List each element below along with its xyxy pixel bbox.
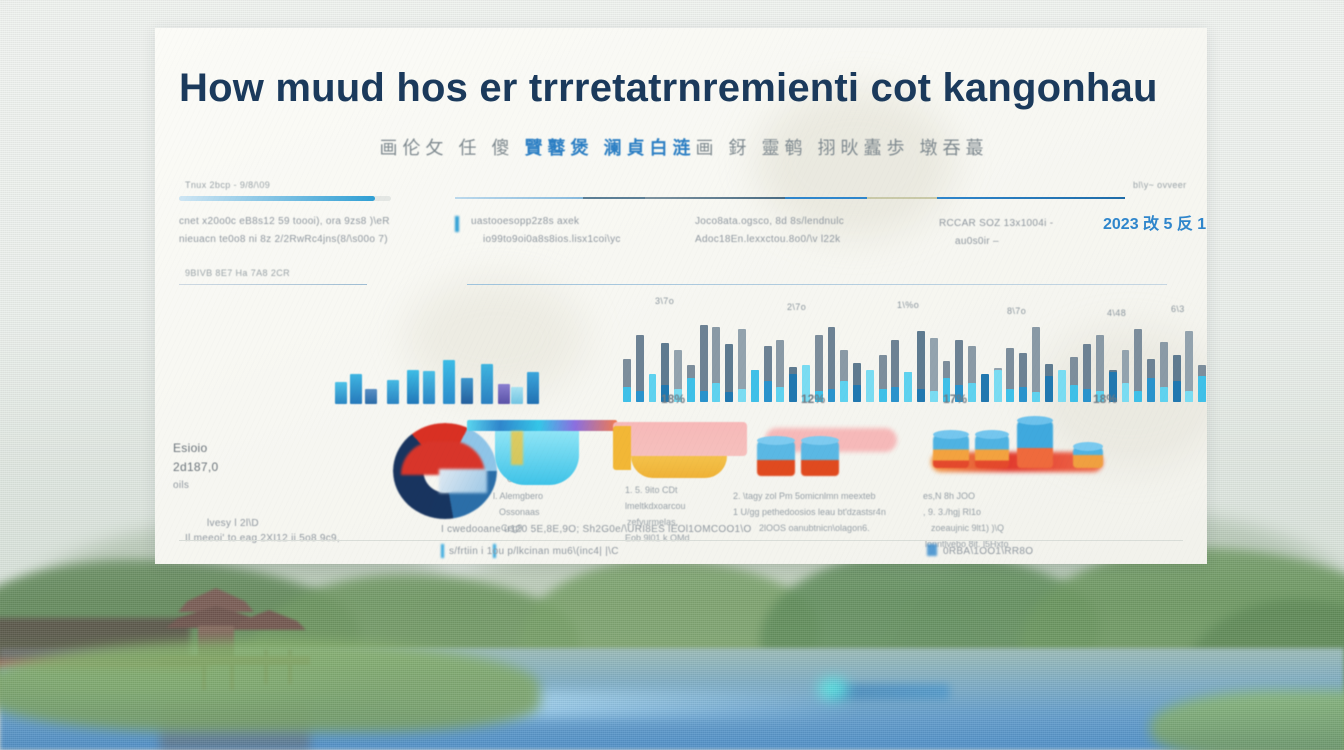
main-bar-cyan [917,389,925,402]
main-bar-cyan [700,391,708,402]
donut-label-left-3: oils [173,480,189,491]
mini-bar [387,380,399,404]
main-bar-slate [1032,327,1040,402]
mini-bar [443,360,455,404]
main-bar-cyan [649,374,657,402]
divider-segment [645,197,785,199]
card-1-caption-1: l. Alemgbero [493,490,543,503]
main-bar-cyan [853,385,861,402]
main-bar-cyan [968,383,976,402]
donut-label-left-2: 2d187,0 [173,460,218,474]
footer-line-2: s/frtiin i 1ou p/lkcinan mu6\(inc4| |\C [449,546,619,557]
footer-badge [927,544,937,556]
mini-bar [350,374,362,404]
card-2-percent[interactable]: 12% [801,392,825,406]
mini-bar [423,371,435,404]
donut-caption-2: Il meeoi' to eag 2XI12 ii 5o8 9c9, [185,533,340,544]
footer-divider [179,540,1183,541]
main-bar-cyan [1122,383,1130,402]
left-bar-label: Tnux 2bcp - 9/8/\09 [185,180,270,190]
top-col4-tail: au0s0ir – [955,236,999,247]
main-bar-cyan [891,387,899,402]
card-4-cylinder [975,434,1009,468]
divider-segment [785,197,867,199]
mini-chart-label: 9BIVB 8E7 Ha 7A8 2CR [185,268,290,278]
subtitle-tail: 画 釾 靈鹌 挧炚蠹歩 墩吞蕞 [696,138,989,158]
main-bar-chart [623,316,1207,402]
progress-fill-left [179,196,375,201]
mini-bar [498,384,510,404]
mini-bar [481,364,493,404]
card-4-cylinder-top [975,430,1009,439]
progress-track-left [179,196,391,201]
top-col2-line2: io99to9oi0a8s8ios.lisx1coi\yc [483,234,621,245]
card-3-caption-1: 2. \tagy zol Pm 5omicnlmn meexteb [733,490,876,503]
mini-bar [461,378,473,404]
footer-bullet [441,544,444,558]
divider-segment [455,197,583,199]
card-2-accent-left [613,426,631,470]
chart-annotation: 6\3 [1171,304,1185,314]
card-3-caption-3: 2lOOS oanubtnicn\olagon6. [759,522,870,535]
main-bar-cyan [1006,389,1014,402]
mini-bar [527,372,539,404]
card-4-caption-2: , 9. 3./hgj Rl1o [923,506,981,519]
mini-chart-rule [179,284,367,285]
main-bar-cyan [764,381,772,403]
card-4-cylinder-top [1017,416,1053,425]
footer-line-1: I cwedooane u120 5E,8E,9O; Sh2G0e/\URI8E… [441,524,752,535]
mini-bar [511,387,523,404]
main-bar-cyan [789,374,797,402]
main-bar-cyan [751,370,759,402]
card-1-bar [467,420,617,431]
top-col3-line2: Adoc18En.lexxctou.8o0/\v l22k [695,234,840,245]
card-1-caption-2: Ossonaas [499,506,540,519]
card-3-cylinder [801,440,839,476]
footer-line-3: 0RBA\1OO1\RR8O [943,546,1033,557]
donut-caption-1: lvesy l 2l\D [207,518,259,529]
main-bar-cyan [930,391,938,402]
card-4-graphic[interactable] [923,418,1113,484]
main-bar-cyan [1147,378,1155,402]
infographic-poster: How muud hos er trrretatrnremienti cot k… [155,28,1207,564]
card-3-caption-2: 1 U/gg pethedoosios leau bt'dzastsr4n [733,506,886,519]
mini-bar [407,370,419,404]
card-2-funnel [631,456,727,478]
big-chart-rule [467,284,1167,285]
card-4-caption-1: es,N 8h JOO [923,490,975,503]
card-1-percent[interactable]: 18% [661,392,685,406]
main-bar-cyan [712,383,720,402]
main-bar-cyan [840,381,848,403]
chart-annotation: 2\7o [787,302,806,312]
main-bar-cyan [904,372,912,402]
main-bar-cyan [981,374,989,402]
card-2-block [613,422,747,456]
subtitle-lead: 画伦攵 任 傻 [379,138,524,158]
page-title: How muud hos er trrretatrnremienti cot k… [179,66,1189,111]
top-col1-line2: nieuacn te0o8 ni 8z 2/2RwRc4jns(8/\s00o … [179,234,388,245]
main-bar-cyan [1070,385,1078,402]
subtitle: 画伦攵 任 傻 贒鼛煲 澜貞白涟画 釾 靈鹌 挧炚蠹歩 墩吞蕞 [179,134,1189,160]
card-3-cylinder-top [757,436,795,445]
main-bar-cyan [866,370,874,402]
card-2-caption-1: 1. 5. 9ito CDt [625,484,678,497]
subtitle-highlight: 贒鼛煲 澜貞白涟 [524,138,695,158]
card-3-graphic[interactable] [735,424,905,490]
main-bar-cyan [1045,376,1053,402]
main-bar-cyan [1083,389,1091,402]
top-col2-line1: uastooesopp2z8s axek [471,216,579,227]
chart-annotation: 8\7o [1007,306,1026,316]
top-col1-line1: cnet x20o0c eB8s12 59 toooi), ora 9zs8 )… [179,216,390,227]
main-bar-cyan [1058,370,1066,402]
card-4-cylinder-top [1073,442,1103,451]
card-4-cylinder [1017,420,1053,468]
kpi-value: 2023 改 5 反 1l [1103,210,1207,234]
main-bar-cyan [725,392,733,402]
divider-segment [937,197,1125,199]
chart-annotation: 4\48 [1107,308,1126,318]
main-bar-cyan [1198,376,1206,402]
card-1-accent [511,431,523,465]
card-4-caption-3: zoeaujnic 9lt1) )\Q [931,522,1004,535]
main-bar-cyan [1160,387,1168,402]
main-bar-cyan [1185,391,1193,402]
chart-annotation: 1\%o [897,300,919,310]
main-bar-cyan [636,391,644,402]
main-bar-cyan [1173,381,1181,403]
chart-annotation: 3\7o [655,296,674,306]
bullet-marker [455,216,459,232]
boat [830,684,950,700]
card-2-caption-2: lmeltkdxoarcou [625,500,686,513]
card-3-percent[interactable]: 17% [943,392,967,406]
mini-bar [365,389,377,404]
divider-segment [583,197,645,199]
card-4-cylinder-top [933,430,969,439]
right-bar-label: bl\y~ ovveer [1133,180,1187,190]
main-bar-cyan [776,387,784,402]
card-1-funnel [495,431,579,485]
mini-bar [335,382,347,404]
top-col4-sub: RCCAR SOZ 13x1004i - [939,218,1053,229]
water-light-glow [818,678,848,700]
card-4-cylinder [933,434,969,468]
main-bar-cyan [687,378,695,402]
main-bar-cyan [1032,392,1040,402]
main-bar-cyan [1019,387,1027,402]
card-3-cylinder-top [801,436,839,445]
card-4-percent[interactable]: 18% [1093,392,1117,406]
divider-segment [867,197,937,199]
main-bar-cyan [828,389,836,402]
mini-bar-chart [335,358,535,404]
main-bar-cyan [623,387,631,402]
top-col3-line1: Joco8ata.ogsco, 8d 8s/lendnulc [695,216,844,227]
shore-grass [0,640,540,732]
main-bar-cyan [879,389,887,402]
main-bar-cyan [1134,391,1142,402]
main-bar-cyan [738,389,746,402]
card-3-cylinder [757,440,795,476]
main-bar-cyan [994,370,1002,402]
card-1-graphic[interactable] [467,420,617,486]
donut-label-left-1: Esioio [173,441,207,455]
